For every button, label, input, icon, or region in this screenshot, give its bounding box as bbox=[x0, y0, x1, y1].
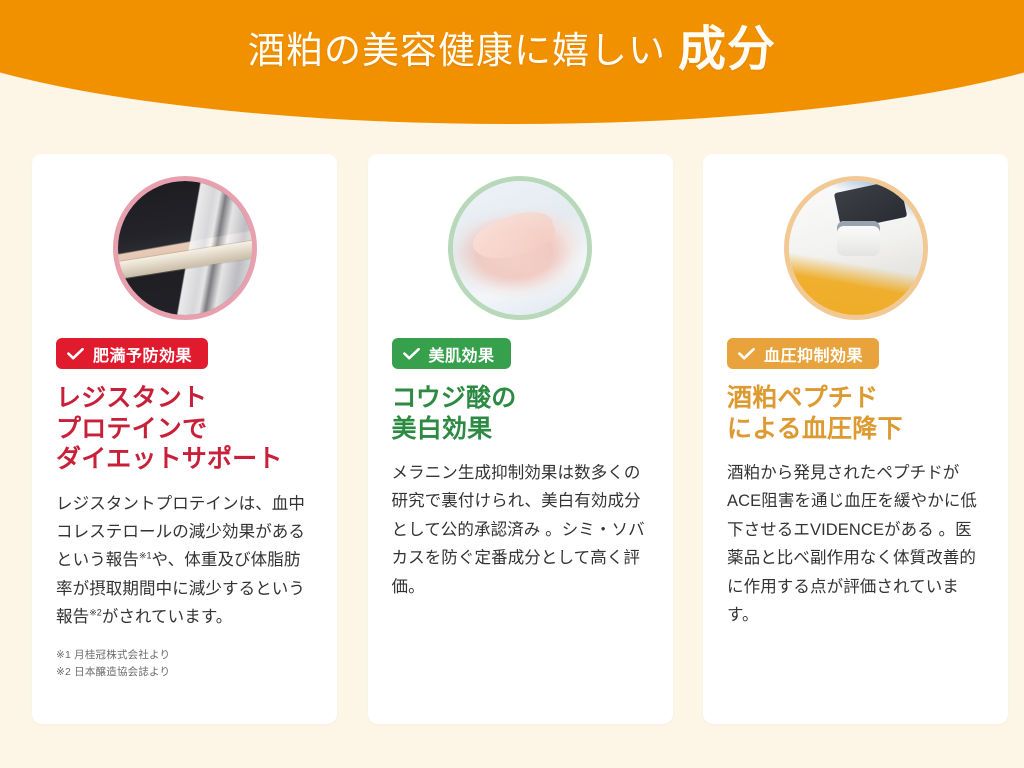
page-title-main: 酒粕の美容健康に嬉しい bbox=[248, 32, 666, 69]
footnote-item: ※2 日本醸造協会誌より bbox=[56, 664, 170, 680]
card-photo-wrap bbox=[727, 176, 984, 320]
footnote-marker-1: ※1 bbox=[139, 551, 152, 561]
footnote-item: ※1 月桂冠株式会社より bbox=[56, 647, 170, 663]
card-photo-wrap bbox=[56, 176, 313, 320]
waist-measuring-photo bbox=[113, 176, 257, 320]
status-badge: 美肌効果 bbox=[392, 338, 511, 369]
card-body-part-3: がされています。 bbox=[102, 608, 233, 626]
status-badge-label: 肥満予防効果 bbox=[93, 342, 192, 366]
status-badge: 肥満予防効果 bbox=[56, 338, 208, 369]
page-title-accent: 成分 bbox=[678, 26, 776, 74]
status-badge-label: 美肌効果 bbox=[429, 342, 495, 366]
check-icon bbox=[403, 348, 420, 360]
status-badge: 血圧抑制効果 bbox=[727, 338, 879, 369]
waist-measuring-photo-art bbox=[118, 181, 252, 315]
check-icon bbox=[738, 348, 755, 360]
card-body-text: レジスタントプロテインは、血中コレステロールの減少効果があるという報告※1や、体… bbox=[56, 490, 313, 632]
card-photo-wrap bbox=[392, 176, 649, 320]
blood-pressure-measurement-photo-art bbox=[789, 181, 923, 315]
card-body-text: メラニン生成抑制効果は数多くの研究で裏付けられ、美白有効成分として公的承認済み … bbox=[392, 459, 649, 601]
hands-skincare-photo-art bbox=[453, 181, 587, 315]
hands-skincare-photo bbox=[448, 176, 592, 320]
benefit-card-obesity-prevention: 肥満予防効果 レジスタント プロテインで ダイエットサポート レジスタントプロテ… bbox=[32, 154, 337, 724]
card-heading: レジスタント プロテインで ダイエットサポート bbox=[56, 383, 283, 475]
benefit-card-skin-whitening: 美肌効果 コウジ酸の 美白効果 メラニン生成抑制効果は数多くの研究で裏付けられ、… bbox=[368, 154, 673, 724]
footnote-list: ※1 月桂冠株式会社より ※2 日本醸造協会誌より bbox=[56, 647, 170, 680]
blood-pressure-measurement-photo bbox=[784, 176, 928, 320]
page-title: 酒粕の美容健康に嬉しい 成分 bbox=[0, 0, 1024, 100]
benefit-card-blood-pressure: 血圧抑制効果 酒粕ペプチド による血圧降下 酒粕から発見されたペプチドがACE阻… bbox=[703, 154, 1008, 724]
check-icon bbox=[67, 348, 84, 360]
status-badge-label: 血圧抑制効果 bbox=[764, 342, 863, 366]
footnote-marker-2: ※2 bbox=[89, 608, 102, 618]
card-body-text: 酒粕から発見されたペプチドがACE阻害を通じ血圧を緩やかに低下させるエVIDEN… bbox=[727, 459, 984, 629]
card-heading: 酒粕ペプチド による血圧降下 bbox=[727, 383, 903, 444]
card-heading: コウジ酸の 美白効果 bbox=[392, 383, 517, 444]
benefit-card-list: 肥満予防効果 レジスタント プロテインで ダイエットサポート レジスタントプロテ… bbox=[32, 154, 1008, 724]
slide-root: 酒粕の美容健康に嬉しい 成分 肥満予防効果 レジスタント プロテインで ダイエッ… bbox=[0, 0, 1024, 768]
